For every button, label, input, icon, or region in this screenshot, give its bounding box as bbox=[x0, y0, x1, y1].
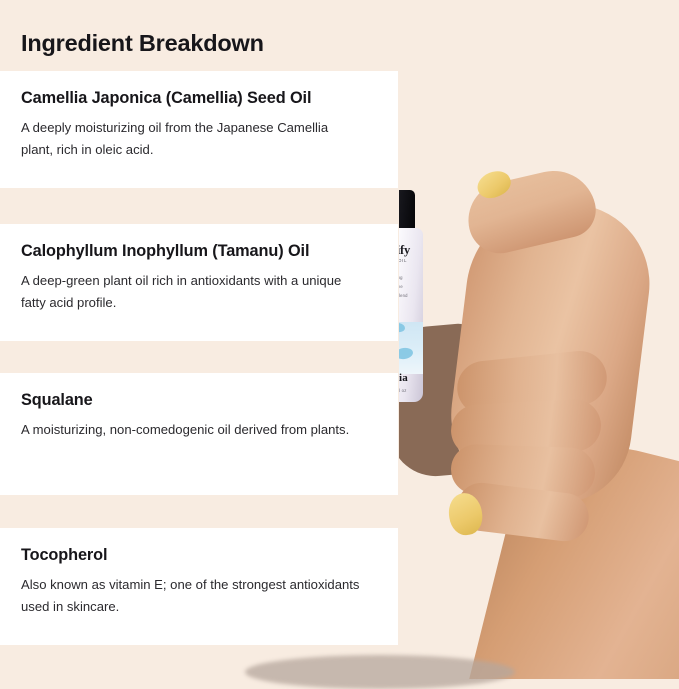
droplet-icon bbox=[399, 322, 406, 333]
bottle-claims: nourishing restorative fatty acid blend bbox=[399, 274, 423, 300]
ingredient-breakdown-panel: Ingredient Breakdown Camellia Japonica (… bbox=[0, 0, 399, 679]
ingredient-description: Also known as vitamin E; one of the stro… bbox=[21, 565, 361, 616]
hand-holding-bottle: Fortify FACIAL OIL nourishing restorativ… bbox=[399, 150, 679, 679]
ingredient-card[interactable]: Camellia Japonica (Camellia) Seed Oil A … bbox=[0, 71, 398, 188]
bottle-body: Fortify FACIAL OIL nourishing restorativ… bbox=[399, 228, 423, 402]
ingredient-description: A moisturizing, non-comedogenic oil deri… bbox=[21, 410, 361, 440]
droplet-icon bbox=[399, 347, 414, 360]
bottle-cap bbox=[399, 190, 415, 232]
bottle-size-label: 30 ml / 1 fl oz bbox=[399, 388, 423, 393]
product-detail-page: Ingredient Breakdown Camellia Japonica (… bbox=[0, 0, 679, 679]
ingredient-card[interactable]: Squalane A moisturizing, non-comedogenic… bbox=[0, 373, 398, 495]
bottle-product-name: Fortify bbox=[399, 243, 423, 258]
ingredient-card[interactable]: Tocopherol Also known as vitamin E; one … bbox=[0, 528, 398, 645]
ingredient-name: Camellia Japonica (Camellia) Seed Oil bbox=[21, 71, 377, 108]
ingredient-name: Squalane bbox=[21, 373, 377, 410]
product-bottle[interactable]: Fortify FACIAL OIL nourishing restorativ… bbox=[399, 190, 423, 402]
ingredient-name: Calophyllum Inophyllum (Tamanu) Oil bbox=[21, 224, 377, 261]
product-photo: Fortify FACIAL OIL nourishing restorativ… bbox=[399, 0, 679, 679]
ingredient-description: A deep-green plant oil rich in antioxida… bbox=[21, 261, 361, 312]
bottle-product-type: FACIAL OIL bbox=[399, 258, 423, 263]
bottom-object-shadow bbox=[245, 655, 515, 689]
ingredient-card[interactable]: Calophyllum Inophyllum (Tamanu) Oil A de… bbox=[0, 224, 398, 341]
ingredient-name: Tocopherol bbox=[21, 528, 377, 565]
bottle-brand-name: stratia bbox=[399, 372, 423, 384]
page-title: Ingredient Breakdown bbox=[21, 29, 264, 57]
ingredient-description: A deeply moisturizing oil from the Japan… bbox=[21, 108, 361, 159]
bottle-blue-band bbox=[399, 322, 423, 374]
